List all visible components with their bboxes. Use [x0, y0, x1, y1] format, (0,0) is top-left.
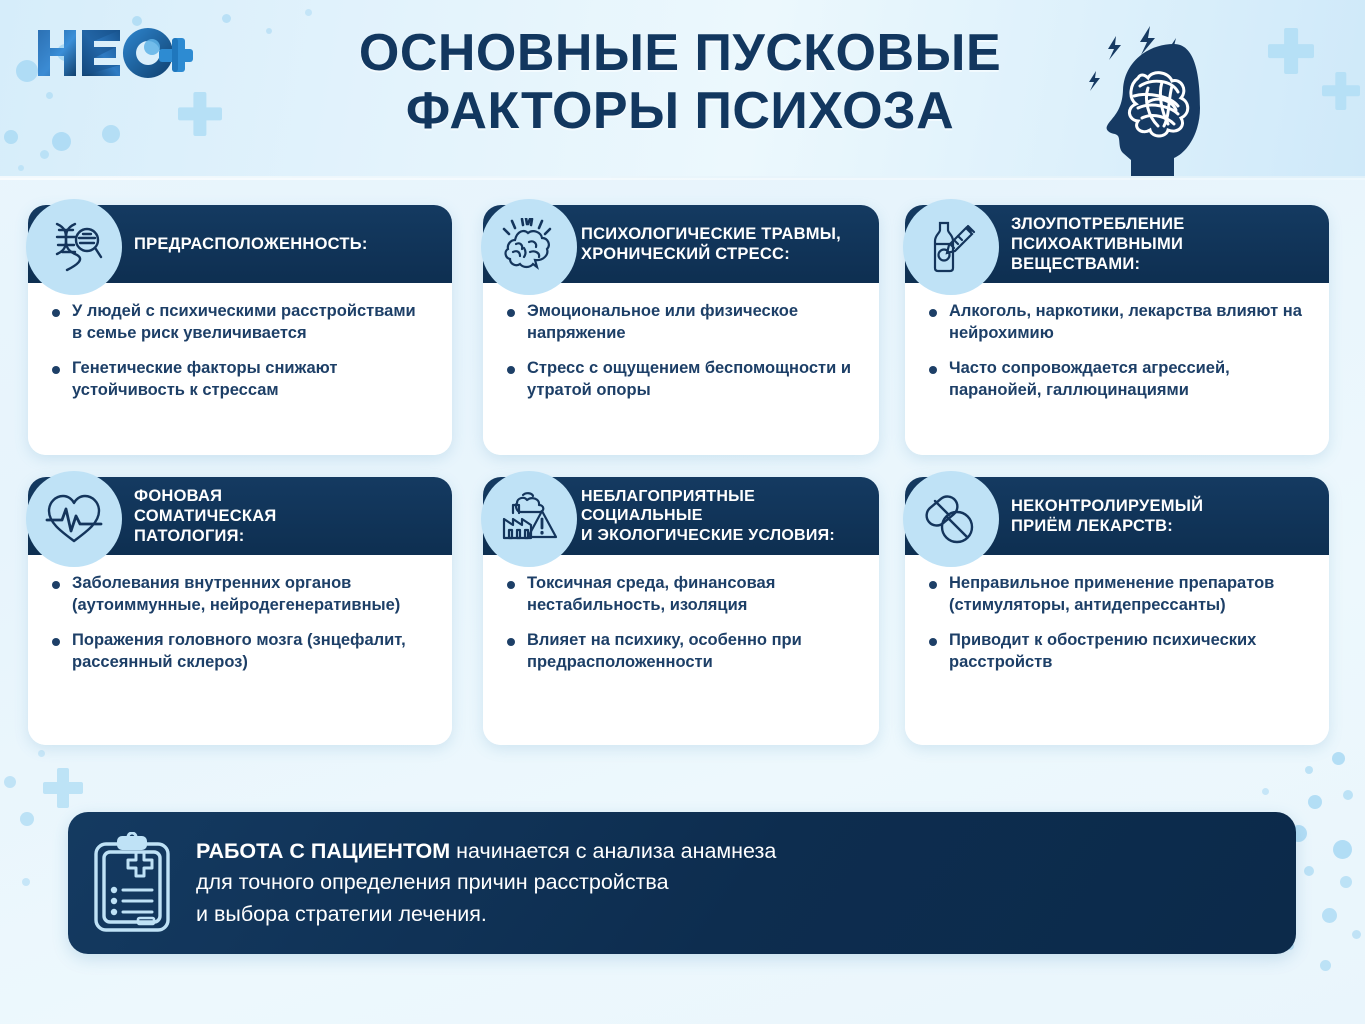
card-psychological-trauma: ПСИХОЛОГИЧЕСКИЕ ТРАВМЫ, ХРОНИЧЕСКИЙ СТРЕ… [483, 205, 879, 455]
heart-pulse-icon [26, 471, 122, 567]
card-title: НЕБЛАГОПРИЯТНЫЕ СОЦИАЛЬНЫЕ И ЭКОЛОГИЧЕСК… [581, 487, 835, 546]
card-body: Токсичная среда, финансовая нестабильнос… [483, 555, 879, 745]
dna-magnifier-icon [26, 199, 122, 295]
title-line-2: ФАКТОРЫ ПСИХОЗА [300, 82, 1060, 140]
card-title: ПСИХОЛОГИЧЕСКИЕ ТРАВМЫ, ХРОНИЧЕСКИЙ СТРЕ… [581, 224, 841, 264]
list-item: Влияет на психику, особенно при предрасп… [505, 630, 861, 674]
list-item: Генетические факторы снижают устойчивост… [50, 358, 430, 402]
footer-rest: начинается с анализа анамнеза [450, 839, 776, 863]
card-title: ФОНОВАЯ СОМАТИЧЕСКАЯ ПАТОЛОГИЯ: [134, 486, 276, 546]
list-item: Неправильное применение препаратов (стим… [927, 573, 1311, 617]
card-body: Алкоголь, наркотики, лекарства влияют на… [905, 283, 1329, 455]
card-body: Эмоциональное или физическое напряжение … [483, 283, 879, 455]
footer-banner: РАБОТА С ПАЦИЕНТОМ начинается с анализа … [68, 812, 1296, 954]
list-item: Часто сопровождается агрессией, паранойе… [927, 358, 1311, 402]
card-title: ЗЛОУПОТРЕБЛЕНИЕ ПСИХОАКТИВНЫМИ ВЕЩЕСТВАМ… [1011, 214, 1185, 274]
card-predisposition: ПРЕДРАСПОЛОЖЕННОСТЬ: У людей с психическ… [28, 205, 452, 455]
list-item: У людей с психическими расстройствами в … [50, 301, 430, 345]
card-somatic-pathology: ФОНОВАЯ СОМАТИЧЕСКАЯ ПАТОЛОГИЯ: Заболева… [28, 477, 452, 745]
bottle-syringe-icon [903, 199, 999, 295]
card-uncontrolled-medication: НЕКОНТРОЛИРУЕМЫЙ ПРИЁМ ЛЕКАРСТВ: Неправи… [905, 477, 1329, 745]
list-item: Стресс с ощущением беспомощности и утрат… [505, 358, 859, 402]
footer-lead: РАБОТА С ПАЦИЕНТОМ [196, 839, 450, 863]
card-title: ПРЕДРАСПОЛОЖЕННОСТЬ: [134, 234, 368, 254]
infographic-root: ОСНОВНЫЕ ПУСКОВЫЕ ФАКТОРЫ ПСИХОЗА [0, 0, 1365, 1024]
brand-logo[interactable] [28, 22, 193, 84]
footer-line-3: и выбора стратегии лечения. [196, 899, 776, 931]
list-item: Эмоциональное или физическое напряжение [505, 301, 859, 345]
card-social-ecological: НЕБЛАГОПРИЯТНЫЕ СОЦИАЛЬНЫЕ И ЭКОЛОГИЧЕСК… [483, 477, 879, 745]
card-body: Неправильное применение препаратов (стим… [905, 555, 1329, 745]
head-illustration [1078, 8, 1268, 176]
title-line-1: ОСНОВНЫЕ ПУСКОВЫЕ [359, 24, 1001, 82]
factory-warning-icon [481, 471, 577, 567]
list-item: Заболевания внутренних органов (аутоимму… [50, 573, 436, 617]
list-item: Алкоголь, наркотики, лекарства влияют на… [927, 301, 1311, 345]
stressed-brain-icon [481, 199, 577, 295]
card-substance-abuse: ЗЛОУПОТРЕБЛЕНИЕ ПСИХОАКТИВНЫМИ ВЕЩЕСТВАМ… [905, 205, 1329, 455]
footer-line-1: РАБОТА С ПАЦИЕНТОМ начинается с анализа … [196, 836, 776, 868]
list-item: Приводит к обострению психических расстр… [927, 630, 1311, 674]
card-body: У людей с психическими расстройствами в … [28, 283, 452, 455]
list-item: Поражения головного мозга (знцефалит, ра… [50, 630, 436, 674]
card-body: Заболевания внутренних органов (аутоимму… [28, 555, 452, 745]
footer-line-2: для точного определения причин расстройс… [196, 867, 776, 899]
footer-text: РАБОТА С ПАЦИЕНТОМ начинается с анализа … [196, 836, 816, 931]
card-title: НЕКОНТРОЛИРУЕМЫЙ ПРИЁМ ЛЕКАРСТВ: [1011, 496, 1203, 536]
clipboard-medical-icon [68, 832, 196, 934]
pills-icon [903, 471, 999, 567]
list-item: Токсичная среда, финансовая нестабильнос… [505, 573, 861, 617]
page-title: ОСНОВНЫЕ ПУСКОВЫЕ ФАКТОРЫ ПСИХОЗА [300, 24, 1060, 140]
